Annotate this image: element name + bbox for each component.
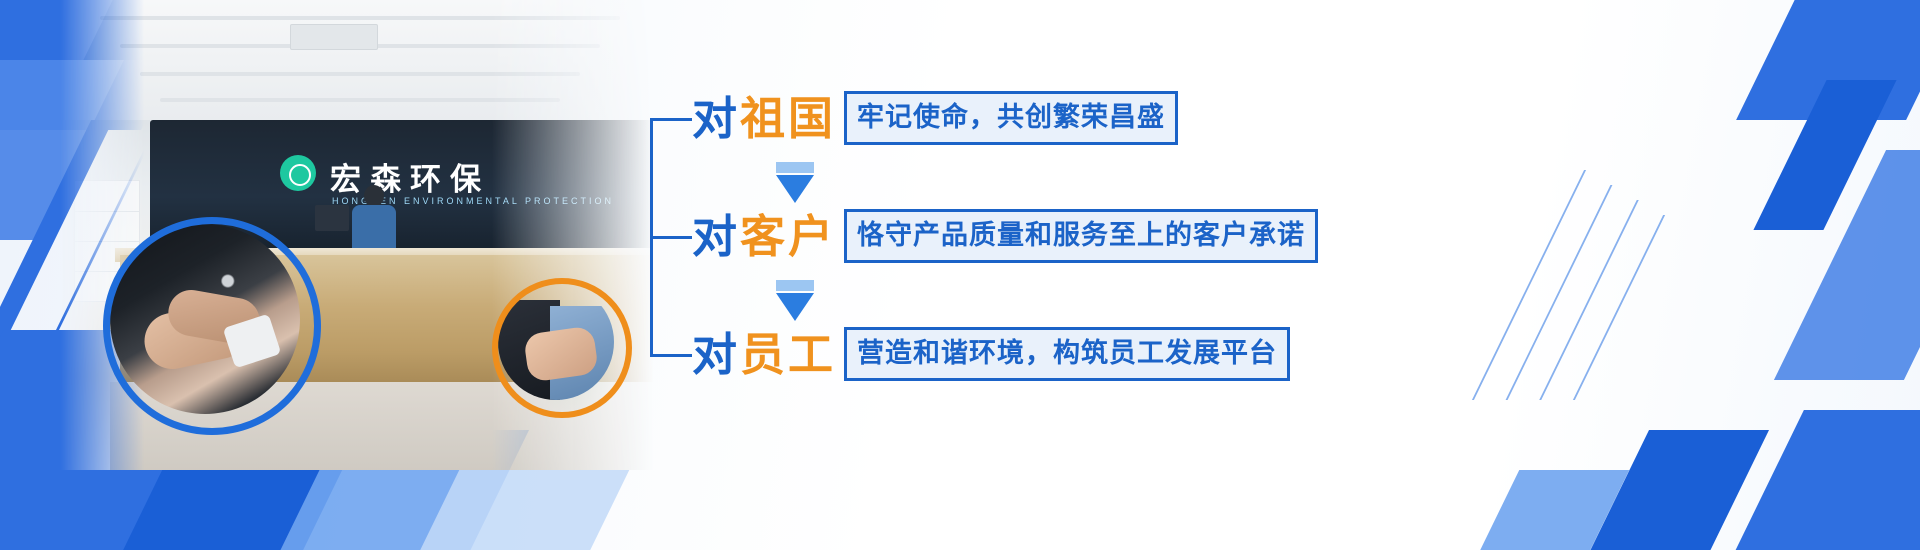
value-prefix-customer: 对 — [692, 214, 738, 259]
decor-hairline-2 — [1506, 185, 1613, 400]
ceiling-light-line-1 — [100, 16, 620, 20]
value-subject-customer: 客户 — [740, 214, 836, 259]
values-bracket-arm-3 — [650, 354, 692, 357]
value-detail-box-country: 牢记使命，共创繁荣昌盛 — [844, 91, 1178, 145]
decor-shape-right-5 — [1571, 430, 1769, 550]
value-prefix-country: 对 — [692, 96, 738, 141]
decor-shape-right-4 — [1716, 410, 1920, 550]
ceiling-light-line-3 — [140, 72, 580, 76]
decor-hairline-1 — [1472, 170, 1586, 400]
decor-hairline-3 — [1539, 200, 1639, 400]
ceiling-vent — [290, 24, 378, 50]
decor-shape-right-3 — [1774, 150, 1920, 380]
decor-shape-bottom-pale — [401, 470, 630, 550]
applause-photo — [498, 284, 614, 400]
company-values-banner: 宏森环保 HONGSEN ENVIRONMENTAL PROTECTION — [0, 0, 1920, 550]
decor-shape-right-1 — [1736, 0, 1920, 120]
company-logo-icon — [280, 155, 316, 191]
value-detail-employee: 营造和谐环境，构筑员工发展平台 — [857, 340, 1277, 367]
value-prefix-employee: 对 — [692, 332, 738, 377]
chevron-down-icon-1 — [776, 162, 814, 203]
values-list: 对 祖国 牢记使命，共创繁荣昌盛 对 客户 恪守产品质量和服务至上的客户承诺 对… — [650, 78, 1350, 383]
decor-shape-right-2 — [1753, 80, 1896, 230]
handshake-photo — [110, 224, 300, 414]
reception-monitor — [315, 205, 349, 231]
value-detail-customer: 恪守产品质量和服务至上的客户承诺 — [857, 222, 1305, 249]
value-subject-employee: 员工 — [740, 332, 836, 377]
decor-shape-right-6 — [1461, 470, 1630, 550]
values-bracket-arm-2 — [650, 236, 692, 239]
value-detail-box-customer: 恪守产品质量和服务至上的客户承诺 — [844, 209, 1318, 263]
value-row-country: 对 祖国 牢记使命，共创繁荣昌盛 — [692, 92, 1178, 144]
value-subject-country: 祖国 — [740, 96, 836, 141]
value-detail-box-employee: 营造和谐环境，构筑员工发展平台 — [844, 327, 1290, 381]
value-row-customer: 对 客户 恪守产品质量和服务至上的客户承诺 — [692, 210, 1318, 262]
chevron-down-icon-2 — [776, 280, 814, 321]
value-detail-country: 牢记使命，共创繁荣昌盛 — [857, 104, 1165, 131]
values-bracket-arm-1 — [650, 118, 692, 121]
ceiling-light-line-4 — [160, 98, 560, 102]
value-row-employee: 对 员工 营造和谐环境，构筑员工发展平台 — [692, 328, 1290, 380]
receptionist-figure — [350, 185, 396, 255]
decor-hairline-4 — [1573, 215, 1665, 400]
